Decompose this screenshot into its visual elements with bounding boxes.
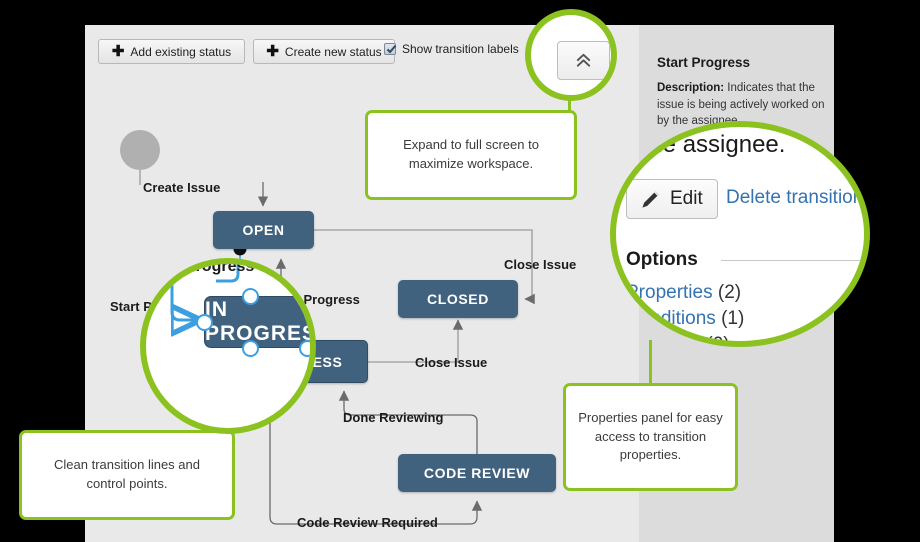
transition-label-close-issue-1[interactable]: Close Issue xyxy=(504,257,576,272)
callout-expand-fullscreen: Expand to full screen to maximize worksp… xyxy=(365,110,577,200)
create-new-status-button[interactable]: ✚ Create new status xyxy=(253,39,395,64)
resize-handle-bottom-right[interactable] xyxy=(299,340,316,357)
panel-description-label: Description: xyxy=(657,82,724,94)
transition-label-done-reviewing[interactable]: Done Reviewing xyxy=(343,410,443,425)
resize-handle-bottom-left[interactable] xyxy=(242,340,259,357)
workflow-start-node[interactable] xyxy=(120,130,160,170)
magnified-node-label: IN PROGRESS xyxy=(205,298,316,346)
magnified-option-properties-link[interactable]: Properties xyxy=(626,282,713,303)
status-node-code-review-label: CODE REVIEW xyxy=(424,465,530,481)
checkbox-box[interactable] xyxy=(384,43,396,55)
magnified-option-conditions-link[interactable]: Conditions xyxy=(626,308,716,329)
show-transition-labels-label: Show transition labels xyxy=(402,42,519,56)
transition-label-close-issue-2[interactable]: Close Issue xyxy=(415,355,487,370)
status-node-closed-label: CLOSED xyxy=(427,291,489,307)
check-icon xyxy=(386,44,397,55)
transition-label-code-review-required[interactable]: Code Review Required xyxy=(297,515,438,530)
status-node-closed[interactable]: CLOSED xyxy=(398,280,518,318)
magnified-options-divider xyxy=(721,260,870,261)
magnified-desc-tail: y the assignee. xyxy=(624,131,785,159)
callout-properties-panel: Properties panel for easy access to tran… xyxy=(563,383,738,491)
pencil-icon xyxy=(641,189,661,209)
magnifier-expand-button xyxy=(525,9,617,101)
callout-transition-lines: Clean transition lines and control point… xyxy=(19,430,235,520)
plus-icon: ✚ xyxy=(112,44,125,59)
magnified-delete-link[interactable]: Delete transition xyxy=(726,187,863,209)
chevron-double-up-icon xyxy=(574,51,593,70)
panel-title: Start Progress xyxy=(657,55,750,70)
connection-handle-left[interactable] xyxy=(196,314,213,331)
callout-properties-text: Properties panel for easy access to tran… xyxy=(578,409,723,466)
plus-icon: ✚ xyxy=(266,44,279,59)
magnified-option-conditions: Conditions (1) xyxy=(626,308,744,330)
magnified-option-conditions-count: (1) xyxy=(721,308,744,329)
magnifier-properties-panel: y the assignee. Edit Delete transition O… xyxy=(610,121,870,347)
magnified-status-node-in-progress[interactable]: IN PROGRESS xyxy=(204,296,316,348)
status-node-open-label: OPEN xyxy=(242,222,284,238)
create-new-status-label: Create new status xyxy=(285,45,382,59)
callout-expand-text: Expand to full screen to maximize worksp… xyxy=(380,136,562,174)
add-existing-status-label: Add existing status xyxy=(130,45,231,59)
magnified-expand-button[interactable] xyxy=(557,41,610,80)
transition-label-create-issue[interactable]: Create Issue xyxy=(143,180,220,195)
magnified-option-properties: Properties (2) xyxy=(626,282,741,304)
resize-handle-top-left[interactable] xyxy=(242,288,259,305)
magnified-edit-button[interactable]: Edit xyxy=(626,179,718,219)
status-node-open[interactable]: OPEN xyxy=(213,211,314,249)
show-transition-labels-checkbox[interactable]: Show transition labels xyxy=(384,42,519,56)
callout-lines-text: Clean transition lines and control point… xyxy=(34,456,220,494)
magnified-option-properties-count: (2) xyxy=(718,282,741,303)
magnified-edit-label: Edit xyxy=(670,188,703,210)
magnified-options-heading: Options xyxy=(626,249,698,271)
leader-line-properties xyxy=(649,340,652,388)
status-node-code-review[interactable]: CODE REVIEW xyxy=(398,454,556,492)
screenshot-stage: ✚ Add existing status ✚ Create new statu… xyxy=(0,0,920,542)
add-existing-status-button[interactable]: ✚ Add existing status xyxy=(98,39,245,64)
magnified-connectors xyxy=(146,264,316,434)
magnifier-transition-lines: IN PROGRESS Start Progress xyxy=(140,258,316,434)
